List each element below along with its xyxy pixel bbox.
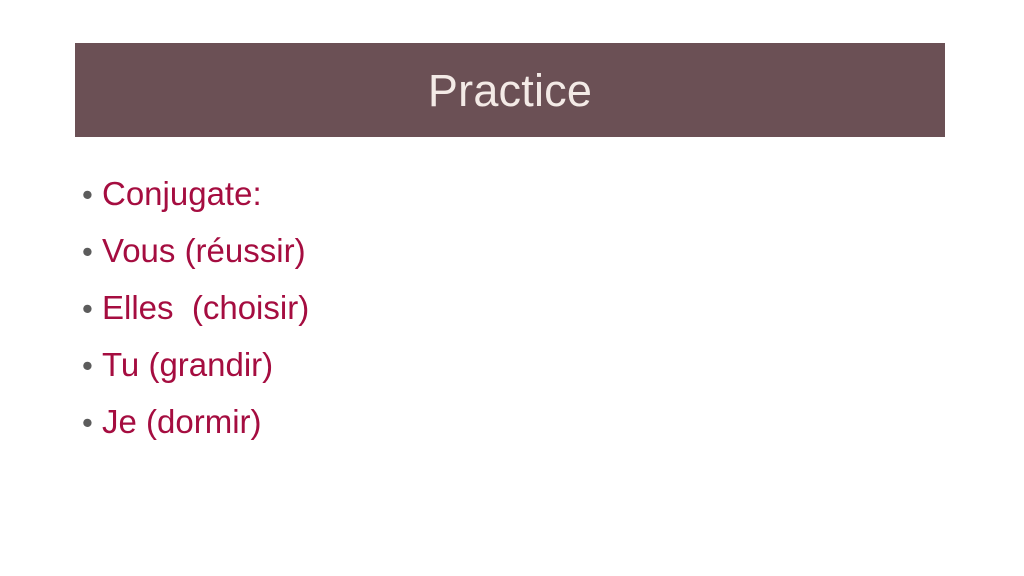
list-item-label: Conjugate: xyxy=(102,165,262,222)
list-item: • Elles (choisir) xyxy=(82,279,902,336)
list-item-label: Vous (réussir) xyxy=(102,222,306,279)
presentation-slide: Practice • Conjugate: • Vous (réussir) •… xyxy=(0,0,1024,576)
list-item-label: Je (dormir) xyxy=(102,393,262,450)
bullet-point-icon: • xyxy=(82,166,102,223)
list-item: • Vous (réussir) xyxy=(82,222,902,279)
list-item: • Conjugate: xyxy=(82,165,902,222)
slide-title-bar: Practice xyxy=(75,43,945,137)
bullet-point-icon: • xyxy=(82,223,102,280)
list-item: • Tu (grandir) xyxy=(82,336,902,393)
slide-title: Practice xyxy=(428,68,592,113)
bullet-point-icon: • xyxy=(82,337,102,394)
list-item-label: Elles (choisir) xyxy=(102,279,309,336)
bullet-point-icon: • xyxy=(82,280,102,337)
list-item-label: Tu (grandir) xyxy=(102,336,273,393)
bullet-list: • Conjugate: • Vous (réussir) • Elles (c… xyxy=(82,165,902,450)
list-item: • Je (dormir) xyxy=(82,393,902,450)
bullet-point-icon: • xyxy=(82,394,102,451)
